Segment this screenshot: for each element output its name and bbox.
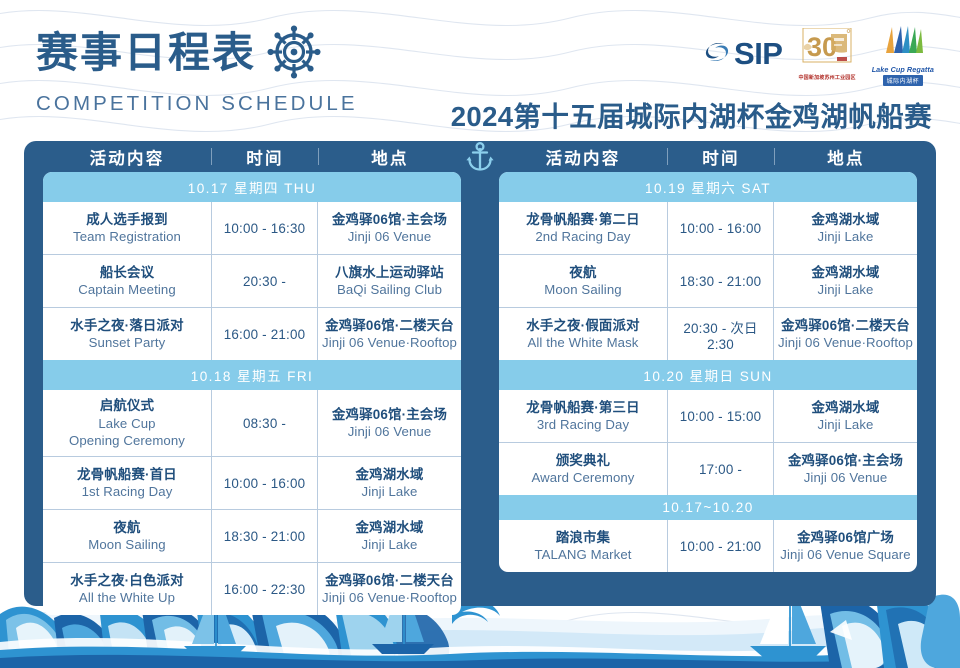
location-name-en: Jinji 06 Venue·Rooftop — [322, 334, 457, 351]
activity-name-en: 3rd Racing Day — [503, 416, 663, 433]
time-value: 16:00 - 22:30 — [216, 582, 313, 597]
ships-wheel-icon — [266, 24, 322, 85]
cell-time: 20:30 - — [211, 255, 317, 307]
cell-activity: 龙骨帆船赛·首日1st Racing Day — [43, 457, 211, 509]
cell-time: 10:00 - 16:30 — [211, 202, 317, 254]
table-header-right: 活动内容 时间 地点 — [499, 141, 917, 172]
lake-cup-regatta-badge: 城际内湖杯 — [883, 75, 924, 86]
activity-name-en: All the White Up — [47, 589, 207, 606]
time-value: 17:00 - — [672, 462, 769, 477]
page-subtitle-en: COMPETITION SCHEDULE — [36, 92, 416, 116]
location-name-en: Jinji Lake — [778, 228, 913, 245]
schedule-row: 水手之夜·落日派对Sunset Party16:00 - 21:00金鸡驿06馆… — [43, 307, 461, 360]
logo-group: SIP 30 中国新加坡苏州工业园区 — [702, 26, 934, 82]
cell-time: 10:00 - 21:00 — [667, 520, 773, 572]
activity-name-cn: 水手之夜·落日派对 — [47, 317, 207, 335]
activity-name-en: TALANG Market — [503, 546, 663, 563]
location-name-cn: 八旗水上运动驿站 — [322, 264, 457, 282]
cell-location: 金鸡湖水域Jinji Lake — [317, 510, 461, 562]
column-header-activity: 活动内容 — [499, 145, 667, 169]
cell-time: 20:30 - 次日2:30 — [667, 308, 773, 360]
cell-activity: 龙骨帆船赛·第二日2nd Racing Day — [499, 202, 667, 254]
time-value: 18:30 - 21:00 — [216, 529, 313, 544]
column-header-location: 地点 — [319, 145, 461, 169]
activity-name-en: Moon Sailing — [47, 536, 207, 553]
time-value: 20:30 - 次日2:30 — [672, 317, 769, 352]
schedule-date-band: 10.17~10.20 — [499, 495, 917, 520]
schedule-row: 水手之夜·白色派对All the White Up16:00 - 22:30金鸡… — [43, 562, 461, 615]
column-header-location: 地点 — [775, 145, 917, 169]
schedule-row: 踏浪市集TALANG Market10:00 - 21:00金鸡驿06馆广场Ji… — [499, 520, 917, 572]
cell-time: 10:00 - 16:00 — [211, 457, 317, 509]
schedule-row: 夜航Moon Sailing18:30 - 21:00金鸡湖水域Jinji La… — [43, 509, 461, 562]
location-name-en: Jinji Lake — [322, 483, 457, 500]
time-value: 08:30 - — [216, 416, 313, 431]
time-value: 10:00 - 16:00 — [672, 221, 769, 236]
location-name-cn: 金鸡驿06馆·二楼天台 — [322, 317, 457, 335]
cell-time: 16:00 - 22:30 — [211, 563, 317, 615]
cell-time: 17:00 - — [667, 443, 773, 495]
cell-time: 10:00 - 16:00 — [667, 202, 773, 254]
activity-name-cn: 船长会议 — [47, 264, 207, 282]
time-value: 18:30 - 21:00 — [672, 274, 769, 289]
lake-cup-regatta-text: Lake Cup Regatta — [872, 65, 934, 74]
location-name-cn: 金鸡湖水域 — [778, 211, 913, 229]
sip-logo-text: SIP — [734, 36, 782, 72]
time-value: 10:00 - 16:30 — [216, 221, 313, 236]
time-value: 16:00 - 21:00 — [216, 327, 313, 342]
location-name-en: Jinji Lake — [778, 416, 913, 433]
schedule-row: 水手之夜·假面派对All the White Mask20:30 - 次日2:3… — [499, 307, 917, 360]
location-name-en: Jinji 06 Venue Square — [778, 546, 913, 563]
schedule-row: 龙骨帆船赛·首日1st Racing Day10:00 - 16:00金鸡湖水域… — [43, 456, 461, 509]
cell-activity: 水手之夜·假面派对All the White Mask — [499, 308, 667, 360]
cell-location: 八旗水上运动驿站BaQi Sailing Club — [317, 255, 461, 307]
location-name-cn: 金鸡驿06馆·主会场 — [322, 406, 457, 424]
location-name-cn: 金鸡驿06馆广场 — [778, 529, 913, 547]
table-header-left: 活动内容 时间 地点 — [43, 141, 461, 172]
location-name-cn: 金鸡驿06馆·主会场 — [322, 211, 457, 229]
location-name-en: Jinji 06 Venue·Rooftop — [322, 589, 457, 606]
regatta-sails-icon — [874, 23, 932, 64]
activity-name-cn: 夜航 — [503, 264, 663, 282]
activity-name-en: 1st Racing Day — [47, 483, 207, 500]
activity-name-cn: 踏浪市集 — [503, 529, 663, 547]
cell-activity: 龙骨帆船赛·第三日3rd Racing Day — [499, 390, 667, 442]
location-name-cn: 金鸡驿06馆·二楼天台 — [778, 317, 913, 335]
cell-location: 金鸡驿06馆·二楼天台Jinji 06 Venue·Rooftop — [773, 308, 917, 360]
activity-name-cn: 颁奖典礼 — [503, 452, 663, 470]
column-header-time: 时间 — [212, 145, 318, 169]
schedule-date-band: 10.19 星期六 SAT — [499, 172, 917, 202]
schedule-table-left: 10.17 星期四 THU成人选手报到Team Registration10:0… — [43, 172, 461, 615]
activity-name-cn: 启航仪式 — [47, 397, 207, 415]
schedule-row: 成人选手报到Team Registration10:00 - 16:30金鸡驿0… — [43, 202, 461, 254]
cell-activity: 夜航Moon Sailing — [43, 510, 211, 562]
cell-activity: 水手之夜·落日派对Sunset Party — [43, 308, 211, 360]
cell-location: 金鸡驿06馆·主会场Jinji 06 Venue — [317, 390, 461, 456]
anchor-icon — [463, 141, 497, 178]
activity-name-cn: 龙骨帆船赛·首日 — [47, 466, 207, 484]
cell-activity: 船长会议Captain Meeting — [43, 255, 211, 307]
time-value: 20:30 - — [216, 274, 313, 289]
schedule-row: 船长会议Captain Meeting20:30 -八旗水上运动驿站BaQi S… — [43, 254, 461, 307]
location-name-en: Jinji 06 Venue·Rooftop — [778, 334, 913, 351]
activity-name-en: Lake Cup — [47, 415, 207, 432]
time-value: 10:00 - 15:00 — [672, 409, 769, 424]
cell-activity: 颁奖典礼Award Ceremony — [499, 443, 667, 495]
lake-cup-regatta-logo: Lake Cup Regatta 城际内湖杯 — [872, 26, 934, 82]
schedule-table-right: 10.19 星期六 SAT龙骨帆船赛·第二日2nd Racing Day10:0… — [499, 172, 917, 572]
schedule-row: 龙骨帆船赛·第三日3rd Racing Day10:00 - 15:00金鸡湖水… — [499, 390, 917, 442]
location-name-cn: 金鸡湖水域 — [778, 399, 913, 417]
location-name-en: Jinji 06 Venue — [322, 228, 457, 245]
activity-name-en: Award Ceremony — [503, 469, 663, 486]
cell-location: 金鸡湖水域Jinji Lake — [773, 390, 917, 442]
thirty-anniversary-mark: 30 — [801, 28, 853, 73]
location-name-cn: 金鸡湖水域 — [322, 466, 457, 484]
cell-location: 金鸡湖水域Jinji Lake — [773, 202, 917, 254]
column-header-activity: 活动内容 — [43, 145, 211, 169]
schedule-column-right: 活动内容 时间 地点 10.19 星期六 SAT龙骨帆船赛·第二日2nd Rac… — [480, 141, 936, 606]
page-title: 赛事日程表 — [36, 31, 256, 75]
activity-name-en: Sunset Party — [47, 334, 207, 351]
schedule-date-band: 10.20 星期日 SUN — [499, 360, 917, 390]
cell-location: 金鸡驿06馆·主会场Jinji 06 Venue — [317, 202, 461, 254]
title-block: 赛事日程表 — [36, 22, 416, 116]
schedule-column-left: 活动内容 时间 地点 10.17 星期四 THU成人选手报到Team Regis… — [24, 141, 480, 606]
time-value: 10:00 - 21:00 — [672, 539, 769, 554]
activity-name-cn: 水手之夜·假面派对 — [503, 317, 663, 335]
event-subtitle: 2024第十五届城际内湖杯金鸡湖帆船赛 — [451, 94, 932, 134]
sip-logo: SIP — [702, 26, 782, 82]
location-name-cn: 金鸡驿06馆·主会场 — [778, 452, 913, 470]
schedule-row: 夜航Moon Sailing18:30 - 21:00金鸡湖水域Jinji La… — [499, 254, 917, 307]
schedule-row: 龙骨帆船赛·第二日2nd Racing Day10:00 - 16:00金鸡湖水… — [499, 202, 917, 254]
cell-location: 金鸡驿06馆·二楼天台Jinji 06 Venue·Rooftop — [317, 563, 461, 615]
schedule-date-band: 10.17 星期四 THU — [43, 172, 461, 202]
activity-name-en: All the White Mask — [503, 334, 663, 351]
time-value: 10:00 - 16:00 — [216, 476, 313, 491]
schedule-row: 颁奖典礼Award Ceremony17:00 -金鸡驿06馆·主会场Jinji… — [499, 442, 917, 495]
sip-30th-caption: 中国新加坡苏州工业园区 — [798, 74, 855, 81]
location-name-en: BaQi Sailing Club — [322, 281, 457, 298]
location-name-cn: 金鸡湖水域 — [778, 264, 913, 282]
cell-location: 金鸡驿06馆·主会场Jinji 06 Venue — [773, 443, 917, 495]
cell-activity: 水手之夜·白色派对All the White Up — [43, 563, 211, 615]
cell-activity: 启航仪式Lake CupOpening Ceremony — [43, 390, 211, 456]
activity-name-cn: 夜航 — [47, 519, 207, 537]
activity-name-cn: 成人选手报到 — [47, 211, 207, 229]
cell-location: 金鸡湖水域Jinji Lake — [317, 457, 461, 509]
cell-time: 18:30 - 21:00 — [667, 255, 773, 307]
activity-name-cn: 龙骨帆船赛·第二日 — [503, 211, 663, 229]
schedule-row: 启航仪式Lake CupOpening Ceremony08:30 -金鸡驿06… — [43, 390, 461, 456]
poster-header: 赛事日程表 — [0, 0, 960, 140]
location-name-en: Jinji 06 Venue — [778, 469, 913, 486]
activity-name-cn: 水手之夜·白色派对 — [47, 572, 207, 590]
cell-time: 08:30 - — [211, 390, 317, 456]
cell-activity: 踏浪市集TALANG Market — [499, 520, 667, 572]
activity-name-en-line2: Opening Ceremony — [47, 432, 207, 449]
cell-location: 金鸡湖水域Jinji Lake — [773, 255, 917, 307]
location-name-cn: 金鸡湖水域 — [322, 519, 457, 537]
activity-name-en: Team Registration — [47, 228, 207, 245]
activity-name-en: Moon Sailing — [503, 281, 663, 298]
activity-name-en: Captain Meeting — [47, 281, 207, 298]
location-name-en: Jinji Lake — [322, 536, 457, 553]
cell-time: 16:00 - 21:00 — [211, 308, 317, 360]
cell-activity: 夜航Moon Sailing — [499, 255, 667, 307]
cell-time: 18:30 - 21:00 — [211, 510, 317, 562]
location-name-en: Jinji 06 Venue — [322, 423, 457, 440]
schedule-panel: 活动内容 时间 地点 10.17 星期四 THU成人选手报到Team Regis… — [24, 141, 936, 606]
location-name-cn: 金鸡驿06馆·二楼天台 — [322, 572, 457, 590]
schedule-date-band: 10.18 星期五 FRI — [43, 360, 461, 390]
activity-name-en: 2nd Racing Day — [503, 228, 663, 245]
activity-name-cn: 龙骨帆船赛·第三日 — [503, 399, 663, 417]
s-swirl-icon — [702, 37, 732, 72]
cell-location: 金鸡驿06馆·二楼天台Jinji 06 Venue·Rooftop — [317, 308, 461, 360]
sip-30th-anniversary-logo: 30 中国新加坡苏州工业园区 — [798, 26, 855, 82]
column-header-time: 时间 — [668, 145, 774, 169]
cell-location: 金鸡驿06馆广场Jinji 06 Venue Square — [773, 520, 917, 572]
location-name-en: Jinji Lake — [778, 281, 913, 298]
cell-time: 10:00 - 15:00 — [667, 390, 773, 442]
cell-activity: 成人选手报到Team Registration — [43, 202, 211, 254]
